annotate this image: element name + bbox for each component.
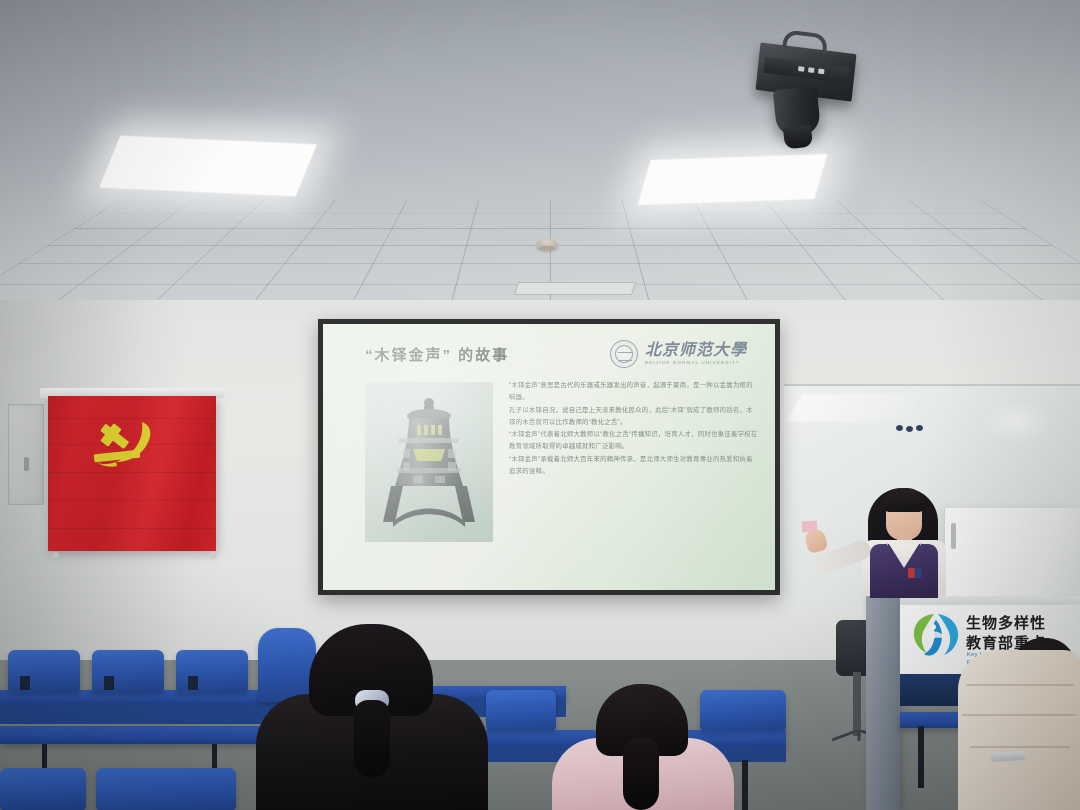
chair[interactable] — [176, 650, 248, 692]
whiteboard-magnet-icon[interactable] — [906, 426, 913, 432]
ceiling-light-panel — [638, 154, 828, 205]
projector-screen-mount-icon — [514, 282, 636, 295]
desk-front-panel — [0, 704, 286, 724]
smoke-detector-icon — [536, 238, 558, 249]
flag-clip-icon — [210, 552, 217, 559]
flag-clip-icon — [52, 552, 59, 559]
projection-screen[interactable]: “木铎金声” 的故事 北京师范大學 BEIJING NORMAL UNIVERS… — [323, 324, 775, 590]
flag-fold — [48, 528, 216, 529]
classroom-scene: “木铎金声” 的故事 北京师范大學 BEIJING NORMAL UNIVERS… — [0, 0, 1080, 810]
desk-leg — [742, 760, 748, 810]
electrical-panel[interactable] — [8, 404, 44, 505]
projector-led — [808, 67, 815, 73]
projection-screen-frame: “木铎金声” 的故事 北京师范大學 BEIJING NORMAL UNIVERS… — [318, 319, 780, 595]
whiteboard-magnet-icon[interactable] — [916, 425, 923, 431]
cabinet-handle-icon[interactable] — [951, 523, 956, 549]
office-chair-post — [853, 672, 861, 736]
ceiling-light-panel — [99, 136, 316, 197]
chair[interactable] — [96, 768, 236, 810]
chair[interactable] — [258, 628, 316, 702]
projector-face — [763, 57, 849, 83]
hammer-sickle-emblem-icon — [86, 416, 160, 482]
panel-latch-icon — [24, 457, 29, 471]
ceiling — [0, 0, 1080, 320]
chair-gap — [20, 676, 30, 690]
projector-led — [818, 69, 825, 75]
av-cabinet[interactable] — [944, 508, 1080, 606]
projector-led — [798, 66, 805, 72]
whiteboard-magnet-icon[interactable] — [896, 425, 903, 431]
student-ponytail — [354, 700, 390, 778]
puffer-jacket — [958, 650, 1080, 810]
flag-fold — [48, 500, 216, 501]
podium-label-line1: 生物多样性 — [966, 612, 1046, 633]
biodiversity-leaf-logo-icon — [910, 610, 962, 660]
presentation-slide: “木铎金声” 的故事 北京师范大學 BEIJING NORMAL UNIVERS… — [323, 324, 775, 590]
slide-sheen — [323, 324, 775, 590]
presenter-hair-front — [883, 488, 925, 512]
student-ponytail — [623, 738, 659, 810]
chair[interactable] — [0, 768, 86, 810]
podium-side-panel — [866, 596, 900, 810]
whiteboard-glare — [786, 394, 922, 422]
chair[interactable] — [8, 650, 80, 692]
presenter-lapel-pin-icon — [908, 568, 922, 578]
desk-leg — [918, 726, 924, 788]
whiteboard-glare — [982, 400, 1052, 444]
desk-row[interactable] — [0, 726, 300, 744]
chair-gap — [188, 676, 198, 690]
chair[interactable] — [700, 690, 786, 730]
chair-gap — [104, 676, 114, 690]
chair[interactable] — [92, 650, 164, 692]
chair[interactable] — [486, 690, 556, 730]
